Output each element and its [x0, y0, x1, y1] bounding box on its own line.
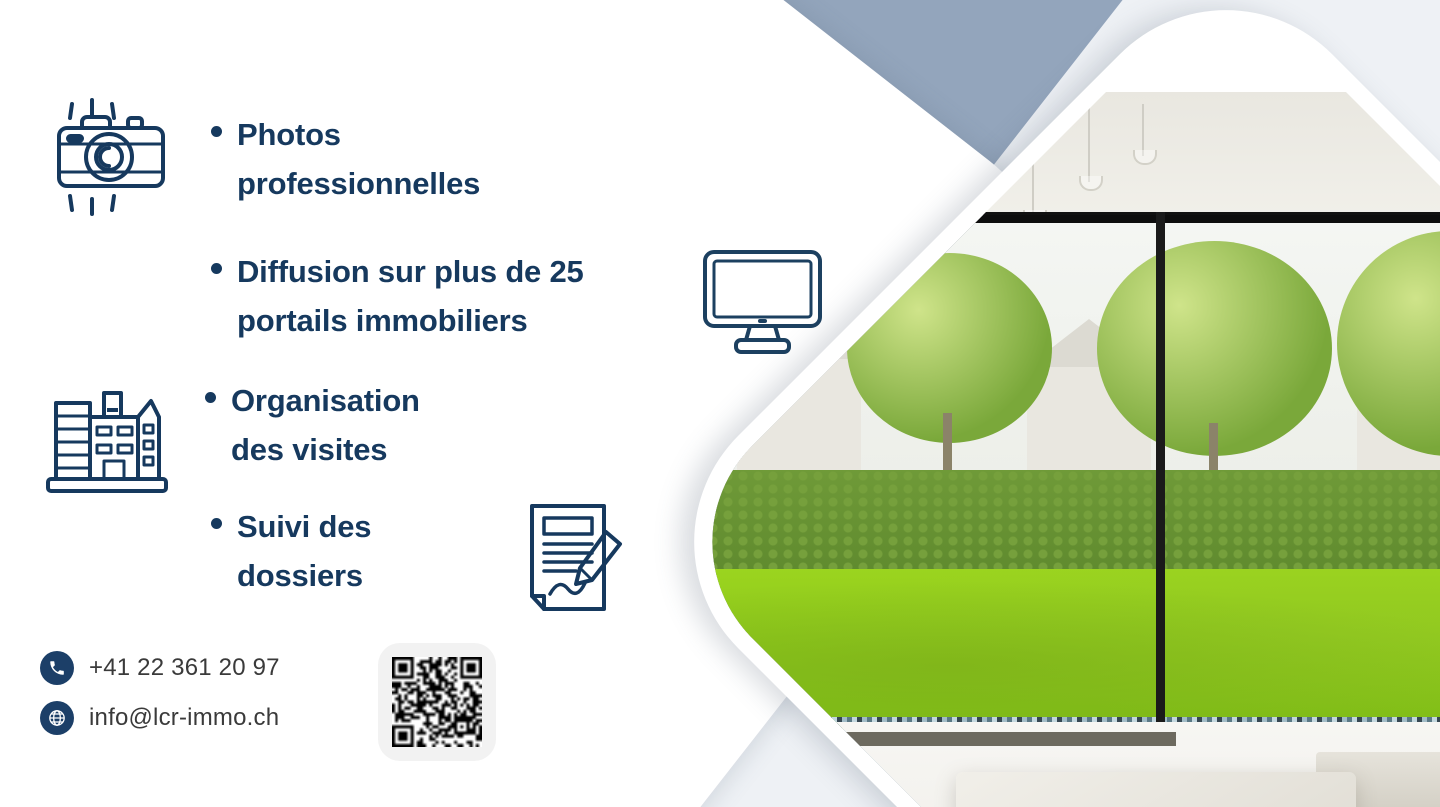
- feature-label: Diffusion sur plus de 25 portails immobi…: [237, 248, 584, 346]
- poster: Photos professionnelles Diffusion sur pl…: [0, 0, 1440, 807]
- qr-code-card[interactable]: [378, 643, 496, 761]
- feature-label: Suivi des dossiers: [237, 503, 371, 601]
- phone-number: +41 22 361 20 97: [89, 654, 280, 682]
- feature-label: Photos professionnelles: [237, 111, 480, 209]
- bullet-icon: [211, 126, 222, 137]
- email-address: info@lcr-immo.ch: [89, 704, 279, 732]
- camera-icon: [52, 98, 172, 216]
- contact-block: +41 22 361 20 97 info@lcr-immo.ch: [40, 651, 280, 735]
- contract-icon: [518, 500, 633, 615]
- contact-email-row[interactable]: info@lcr-immo.ch: [40, 701, 280, 735]
- feature-photos: Photos professionnelles: [211, 111, 480, 209]
- bullet-icon: [205, 392, 216, 403]
- building-icon: [42, 383, 172, 495]
- feature-label: Organisation des visites: [231, 377, 420, 475]
- feature-dossiers: Suivi des dossiers: [211, 503, 371, 601]
- feature-visites: Organisation des visites: [205, 377, 420, 475]
- bullet-icon: [211, 518, 222, 529]
- feature-diffusion: Diffusion sur plus de 25 portails immobi…: [211, 248, 681, 346]
- phone-icon: [40, 651, 74, 685]
- monitor-icon: [700, 248, 825, 356]
- bullet-icon: [211, 263, 222, 274]
- content-area: Photos professionnelles Diffusion sur pl…: [0, 0, 1440, 807]
- qr-code[interactable]: [392, 657, 482, 747]
- contact-phone-row[interactable]: +41 22 361 20 97: [40, 651, 280, 685]
- globe-icon: [40, 701, 74, 735]
